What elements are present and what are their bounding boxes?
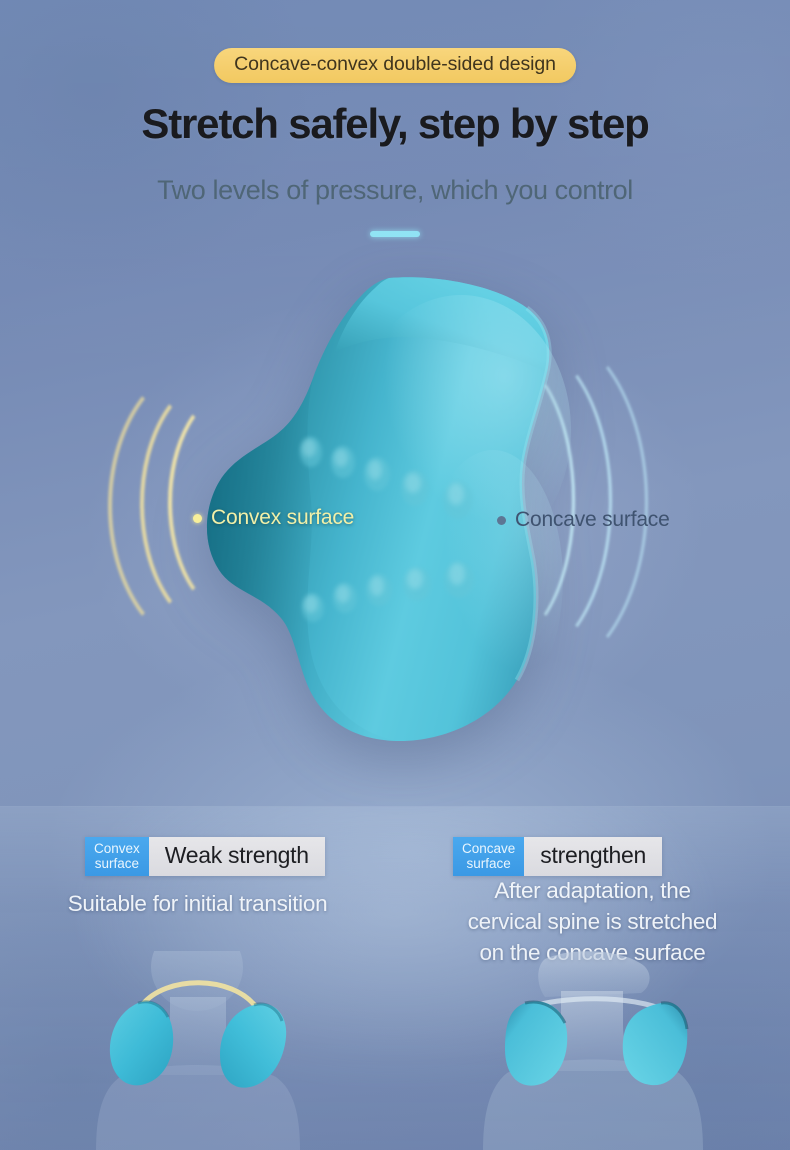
page-title: Stretch safely, step by step: [0, 100, 790, 148]
title-divider: [370, 231, 420, 237]
surface-tag-line-1: Concave: [462, 841, 515, 856]
panel-description: Suitable for initial transition: [0, 888, 395, 919]
surface-tag-line-2: surface: [94, 856, 140, 871]
callout-convex-surface: Convex surface: [193, 506, 354, 530]
panel-tag-row: Concave surface strengthen: [453, 837, 662, 876]
strength-chip: strengthen: [524, 837, 662, 876]
neck-illustration-convex: [0, 951, 395, 1150]
hero-product-stage: Convex surface Concave surface: [0, 250, 790, 810]
panel-tag-row: Convex surface Weak strength: [85, 837, 325, 876]
callout-concave-label: Concave surface: [515, 508, 670, 532]
comparison-panel-convex: Convex surface Weak strength Suitable fo…: [0, 807, 395, 1150]
comparison-band: Convex surface Weak strength Suitable fo…: [0, 806, 790, 1150]
strength-chip: Weak strength: [149, 837, 325, 876]
comparison-panel-concave: Concave surface strengthen After adaptat…: [395, 807, 790, 1150]
surface-tag-line-1: Convex: [94, 841, 140, 856]
bullet-dot-icon: [497, 516, 506, 525]
neck-illustration-concave: [395, 951, 790, 1150]
bullet-dot-icon: [193, 514, 202, 523]
design-badge: Concave-convex double-sided design: [214, 48, 576, 83]
surface-type-tag: Concave surface: [453, 837, 524, 876]
callout-concave-surface: Concave surface: [497, 508, 670, 532]
surface-tag-line-2: surface: [462, 856, 515, 871]
callout-convex-label: Convex surface: [211, 506, 354, 530]
product-marketing-banner: Concave-convex double-sided design Stret…: [0, 0, 790, 1150]
page-subtitle: Two levels of pressure, which you contro…: [0, 175, 790, 206]
surface-type-tag: Convex surface: [85, 837, 149, 876]
header-section: Concave-convex double-sided design Stret…: [0, 0, 790, 250]
